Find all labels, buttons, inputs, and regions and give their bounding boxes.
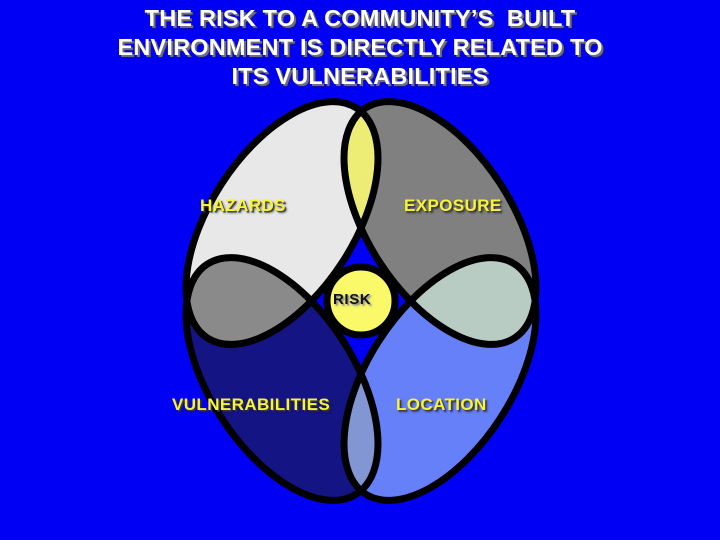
slide-canvas: THE RISK TO A COMMUNITY’S BUILT ENVIRONM… [0, 0, 720, 540]
center-label-risk: RISK [333, 291, 371, 308]
petal-label-hazards: HAZARDS [200, 196, 286, 216]
petal-label-location: LOCATION [396, 395, 487, 415]
title-line-2: ENVIRONMENT IS DIRECTLY RELATED TO [0, 33, 720, 62]
slide-title: THE RISK TO A COMMUNITY’S BUILT ENVIRONM… [0, 4, 720, 91]
title-line-1: THE RISK TO A COMMUNITY’S BUILT [0, 4, 720, 33]
petal-label-vulnerabilities: VULNERABILITIES [172, 395, 330, 415]
petal-label-exposure: EXPOSURE [404, 196, 502, 216]
title-line-3: ITS VULNERABILITIES [0, 62, 720, 91]
